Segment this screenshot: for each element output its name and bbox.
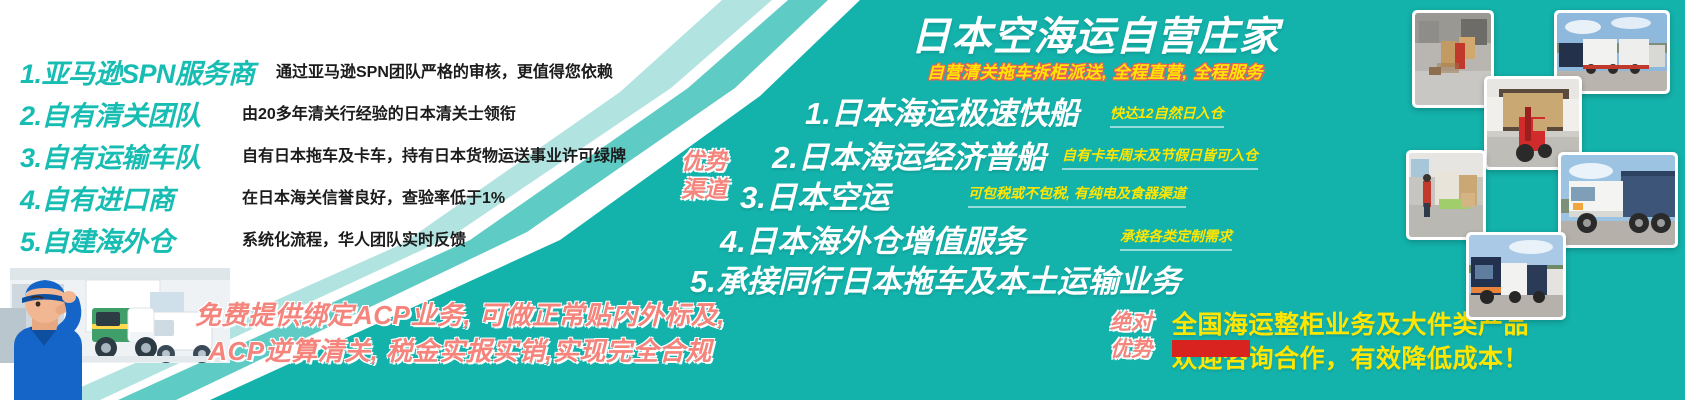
feature-title: 5.自建海外仓 [20,220,174,259]
feature-title: 4.自有进口商 [20,178,174,217]
service-item-2: 2.日本海运经济普船 [772,132,1046,177]
promo-banner: 1.亚马逊SPN服务商 通过亚马逊SPN团队严格的审核，更值得您依赖 2.自有清… [0,0,1685,400]
redaction-bar [1172,340,1250,357]
advantage-badge-line-1: 优势 [672,147,736,175]
service-note-4: 承接各类定制需求 [1120,226,1232,251]
service-item-3: 3.日本空运 [740,172,890,217]
service-item-4: 4.日本海外仓增值服务 [720,216,1025,261]
absolute-advantage-badge: 绝对 优势 [1100,309,1162,363]
service-item-1: 1.日本海运极速快船 [805,88,1079,133]
feature-desc: 由20多年清关行经验的日本清关士领衔 [242,100,516,124]
feature-title: 2.自有清关团队 [20,94,201,133]
feature-title: 1.亚马逊SPN服务商 [20,52,255,91]
service-name: 1.日本海运极速快船 [805,88,1079,133]
service-note-1: 快达12自然日入仓 [1110,103,1224,128]
left-feature-list: 1.亚马逊SPN服务商 通过亚马逊SPN团队严格的审核，更值得您依赖 2.自有清… [14,52,664,262]
acp-promo-message: 免费提供绑定ACP业务, 可做正常贴内外标及, ACP逆算清关, 税金实报实销,… [150,297,770,369]
warehouse-staff-cargo-photo [1406,150,1486,240]
service-name: 4.日本海外仓增值服务 [720,216,1025,261]
acp-promo-line-1: 免费提供绑定ACP业务, 可做正常贴内外标及, [150,297,770,333]
feature-title: 3.自有运输车队 [20,136,201,175]
feature-desc: 系统化流程，华人团队实时反馈 [242,226,466,250]
list-item: 3.自有运输车队 自有日本拖车及卡车，持有日本货物运送事业许可绿牌 [14,136,664,178]
feature-desc: 在日本海关信誉良好，查验率低于1% [242,184,505,208]
warehouse-pallet-handling-photo [1412,10,1494,108]
absolute-advantage-line-1: 绝对 [1100,309,1162,336]
truck-fleet-lineup-photo [1466,232,1566,320]
advantage-badge: 优势 渠道 [672,147,736,203]
list-item: 5.自建海外仓 系统化流程，华人团队实时反馈 [14,220,664,262]
feature-desc: 通过亚马逊SPN团队严格的审核，更值得您依赖 [276,58,613,82]
page-title: 日本空海运自营庄家 [845,4,1345,62]
service-note-3: 可包税或不包税, 有纯电及食器渠道 [968,183,1186,208]
service-note-2: 自有卡车周末及节假日皆可入仓 [1062,145,1258,170]
list-item: 4.自有进口商 在日本海关信誉良好，查验率低于1% [14,178,664,220]
service-name: 2.日本海运经济普船 [772,132,1046,177]
list-item: 1.亚马逊SPN服务商 通过亚马逊SPN团队严格的审核，更值得您依赖 [14,52,664,94]
advantage-badge-line-2: 渠道 [672,175,736,203]
container-truck-photo [1558,152,1678,248]
feature-desc: 自有日本拖车及卡车，持有日本货物运送事业许可绿牌 [242,142,626,166]
acp-promo-line-2: ACP逆算清关, 税金实报实销,实现完全合规 [150,333,770,369]
list-item: 2.自有清关团队 由20多年清关行经验的日本清关士领衔 [14,94,664,136]
service-item-5: 5.承接同行日本拖车及本土运输业务 [690,256,1181,301]
service-name: 3.日本空运 [740,172,890,217]
absolute-advantage-line-2: 优势 [1100,336,1162,363]
service-name: 5.承接同行日本拖车及本土运输业务 [690,256,1181,301]
page-subtitle: 自营清关拖车拆柜派送, 全程直营, 全程服务 [845,58,1345,83]
